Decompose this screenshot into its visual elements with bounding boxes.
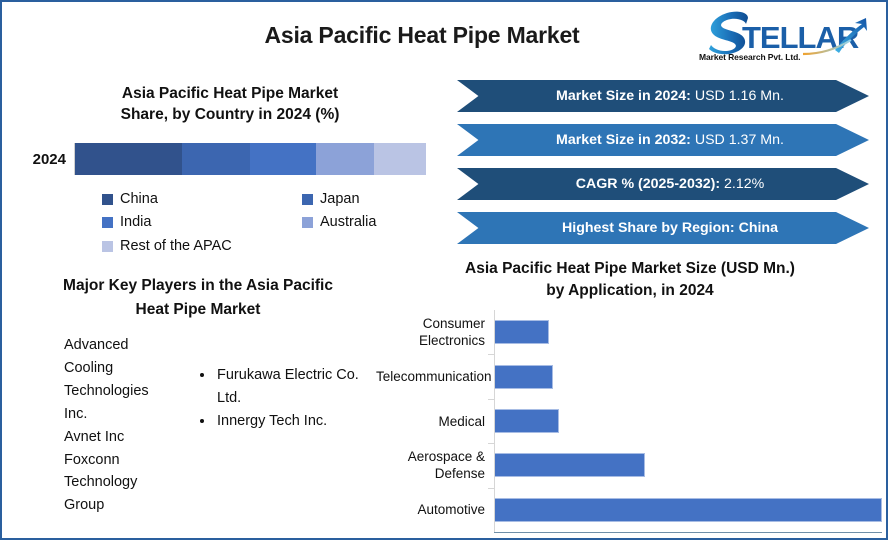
legend-item-australia[interactable]: Australia	[302, 211, 432, 233]
key-player-name: Avnet Inc	[64, 426, 172, 449]
application-category-label: Aerospace & Defense	[376, 448, 494, 482]
application-bar	[494, 498, 882, 522]
share-segment-rest-of-the-apac	[374, 143, 426, 175]
legend-swatch-icon	[302, 194, 313, 205]
application-bar-chart: Asia Pacific Heat Pipe Market Size (USD …	[376, 258, 882, 540]
key-players-title: Major Key Players in the Asia Pacific He…	[22, 274, 374, 322]
legend-swatch-icon	[102, 217, 113, 228]
application-chart-title-line1: Asia Pacific Heat Pipe Market Size (USD …	[390, 258, 870, 280]
legend-label: India	[120, 211, 151, 233]
share-chart-title: Asia Pacific Heat Pipe Market Share, by …	[10, 84, 450, 126]
application-bar	[494, 409, 559, 433]
application-chart-y-axis	[494, 310, 495, 532]
application-bar	[494, 365, 553, 389]
key-players-bullet-list: Furukawa Electric Co. Ltd.Innergy Tech I…	[202, 364, 372, 433]
application-chart-baseline	[494, 532, 882, 533]
kpi-banner-2: Market Size in 2032: USD 1.37 Mn.	[457, 124, 869, 156]
share-bar-row: 2024	[10, 140, 450, 178]
application-category-label: Consumer Electronics	[376, 315, 494, 349]
share-chart: Asia Pacific Heat Pipe Market Share, by …	[10, 84, 450, 264]
kpi-banner-label: CAGR % (2025-2032):	[576, 176, 720, 192]
legend-item-japan[interactable]: Japan	[302, 188, 432, 210]
application-axis-tick	[488, 443, 494, 444]
kpi-banner-content: Market Size in 2032: USD 1.37 Mn.	[542, 132, 784, 148]
share-chart-legend: ChinaJapanIndiaAustraliaRest of the APAC	[102, 188, 432, 257]
share-segment-australia	[316, 143, 374, 175]
share-bar-category-label: 2024	[10, 151, 74, 168]
key-player-name: Innergy Tech Inc.	[215, 410, 372, 433]
legend-label: Australia	[320, 211, 376, 233]
key-player-name: Advanced Cooling Technologies Inc.	[64, 334, 172, 426]
kpi-banner-1: Market Size in 2024: USD 1.16 Mn.	[457, 80, 869, 112]
kpi-banner-content: CAGR % (2025-2032): 2.12%	[562, 176, 764, 192]
kpi-banner-content: Highest Share by Region: China	[548, 220, 778, 236]
kpi-banner-list: Market Size in 2024: USD 1.16 Mn.Market …	[457, 80, 869, 256]
application-category-label: Automotive	[376, 501, 494, 518]
logo-wordmark-icon: TELLAR	[685, 10, 875, 56]
share-segment-china	[75, 143, 182, 175]
application-bar-track	[494, 399, 882, 443]
stacked-share-bar	[74, 143, 426, 175]
legend-swatch-icon	[102, 241, 113, 252]
application-chart-plot: Consumer ElectronicsTelecommunicationMed…	[376, 310, 882, 532]
application-bar	[494, 453, 645, 477]
application-bar-row: Automotive	[376, 488, 882, 532]
application-axis-tick	[488, 488, 494, 489]
application-axis-tick	[488, 354, 494, 355]
application-bar-track	[494, 443, 882, 487]
infographic-canvas: Asia Pacific Heat Pipe Market	[0, 0, 888, 540]
application-bar-row: Aerospace & Defense	[376, 443, 882, 487]
application-bar	[494, 320, 549, 344]
kpi-banner-3: CAGR % (2025-2032): 2.12%	[457, 168, 869, 200]
page-title: Asia Pacific Heat Pipe Market	[202, 22, 642, 49]
application-chart-title: Asia Pacific Heat Pipe Market Size (USD …	[390, 258, 870, 301]
share-segment-japan	[182, 143, 250, 175]
legend-label: Japan	[320, 188, 360, 210]
key-players-section: Major Key Players in the Asia Pacific He…	[22, 274, 374, 322]
legend-swatch-icon	[302, 217, 313, 228]
key-players-columns: Advanced Cooling Technologies Inc.Avnet …	[22, 334, 374, 517]
kpi-banner-content: Market Size in 2024: USD 1.16 Mn.	[542, 88, 784, 104]
kpi-banner-label: Highest Share by Region: China	[562, 220, 778, 236]
legend-label: China	[120, 188, 158, 210]
application-category-label: Medical	[376, 413, 494, 430]
legend-item-india[interactable]: India	[102, 211, 302, 233]
legend-label: Rest of the APAC	[120, 235, 232, 257]
application-bar-track	[494, 310, 882, 354]
application-chart-title-line2: by Application, in 2024	[390, 280, 870, 302]
application-bar-row: Consumer Electronics	[376, 310, 882, 354]
key-players-column-left: Advanced Cooling Technologies Inc.Avnet …	[22, 334, 172, 517]
share-chart-title-line1: Asia Pacific Heat Pipe Market	[50, 84, 410, 105]
application-bar-row: Medical	[376, 399, 882, 443]
kpi-banner-label: Market Size in 2024:	[556, 88, 691, 104]
kpi-banner-value: 2.12%	[720, 176, 764, 192]
share-chart-title-line2: Share, by Country in 2024 (%)	[50, 105, 410, 126]
svg-text:TELLAR: TELLAR	[742, 20, 859, 55]
legend-item-china[interactable]: China	[102, 188, 302, 210]
kpi-banner-value: USD 1.37 Mn.	[691, 132, 784, 148]
key-player-name: Furukawa Electric Co. Ltd.	[215, 364, 372, 410]
application-category-label: Telecommunication	[376, 368, 494, 385]
kpi-banner-4: Highest Share by Region: China	[457, 212, 869, 244]
logo-tagline: Market Research Pvt. Ltd.	[699, 52, 800, 62]
kpi-banner-label: Market Size in 2032:	[556, 132, 691, 148]
header: Asia Pacific Heat Pipe Market	[2, 2, 888, 74]
application-chart-rows: Consumer ElectronicsTelecommunicationMed…	[376, 310, 882, 532]
key-players-column-right: Furukawa Electric Co. Ltd.Innergy Tech I…	[172, 334, 372, 517]
application-bar-row: Telecommunication	[376, 354, 882, 398]
key-player-name: Foxconn Technology Group	[64, 449, 172, 518]
application-axis-tick	[488, 399, 494, 400]
share-segment-india	[250, 143, 317, 175]
key-players-title-line1: Major Key Players in the Asia Pacific	[28, 274, 368, 298]
application-bar-track	[494, 354, 882, 398]
kpi-banner-value: USD 1.16 Mn.	[691, 88, 784, 104]
legend-item-rest-of-the-apac[interactable]: Rest of the APAC	[102, 235, 302, 257]
application-bar-track	[494, 488, 882, 532]
stellar-logo: TELLAR Market Research Pvt. Ltd.	[685, 10, 875, 68]
legend-swatch-icon	[102, 194, 113, 205]
key-players-title-line2: Heat Pipe Market	[28, 298, 368, 322]
